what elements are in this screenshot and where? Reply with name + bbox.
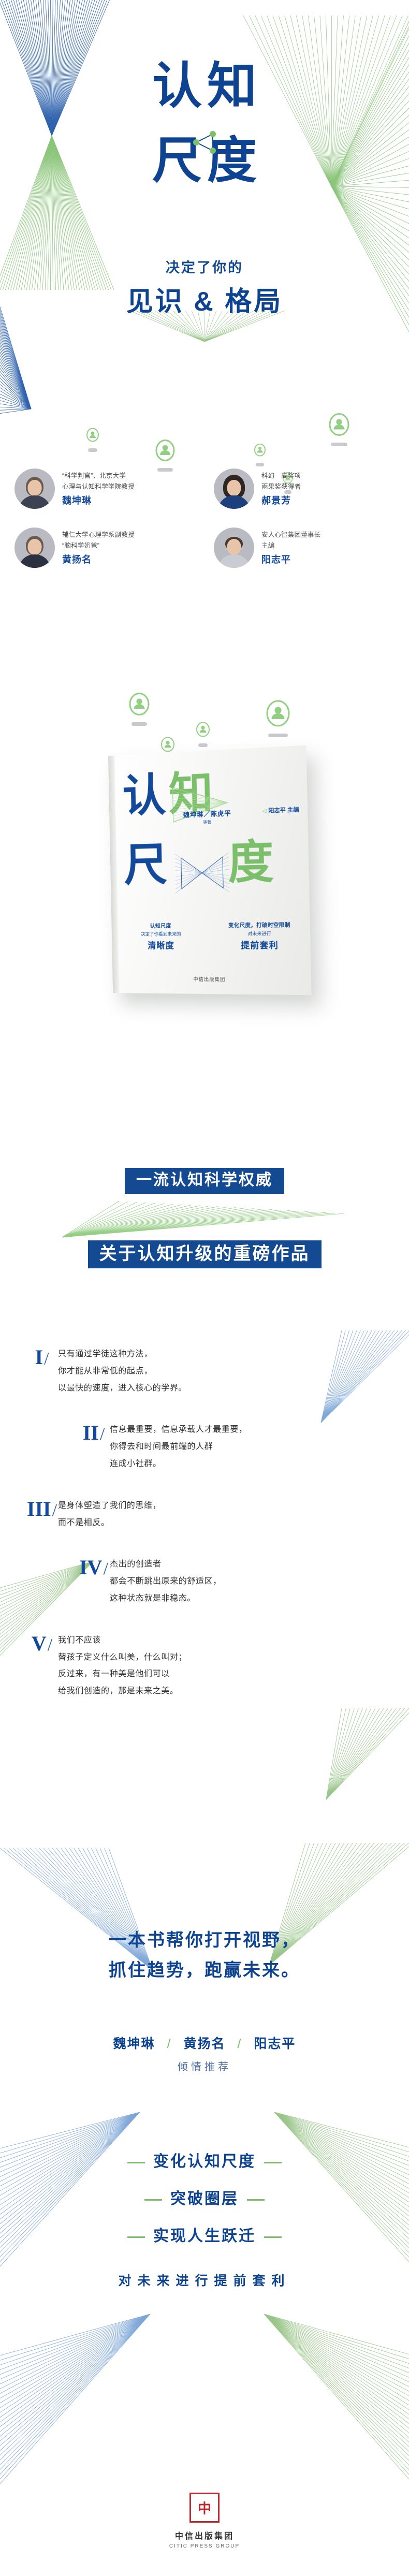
quote-text: 只有通过学徒这种方法， 你才能从非常低的起点， 以最快的速度，进入核心的学界。 bbox=[58, 1346, 187, 1397]
closing-headline-line2: 抓住趋势，跑赢未来。 bbox=[0, 1956, 409, 1981]
hero-section: 认知 尺度 决定了你的 见识 & 格局 bbox=[0, 0, 409, 409]
citic-logo-icon: 中 bbox=[189, 2493, 220, 2523]
triangle-small-icon: ◁ bbox=[262, 808, 267, 814]
person-doodle-3 bbox=[254, 444, 266, 466]
footer-logo-block: 中 中信出版集团 CITIC PRESS GROUP bbox=[0, 2493, 409, 2549]
book-blurb-right: 变化尺度，打破时空限制 对未来进行 提前套利 bbox=[220, 921, 300, 951]
quote-text: 是身体塑造了我们的思维， 而不是相反。 bbox=[58, 1498, 161, 1532]
banner-green-wedge bbox=[57, 1200, 347, 1241]
closing-fan-left bbox=[0, 1848, 155, 1972]
author-card-3: 安人心智集团董事长 主编 阳志平 bbox=[204, 528, 409, 568]
book-char-0: 认 bbox=[122, 772, 166, 819]
avatar bbox=[214, 528, 254, 568]
banner-1-wrap: 一流认知科学权威 bbox=[0, 1168, 409, 1194]
quote-numeral: I/ bbox=[26, 1347, 58, 1368]
banner-2-wrap: 关于认知升级的重磅作品 bbox=[0, 1240, 409, 1268]
book-char-2: 尺 bbox=[124, 842, 168, 888]
publisher-name-en: CITIC PRESS GROUP bbox=[0, 2543, 409, 2549]
dash-mark bbox=[127, 2162, 145, 2163]
slash-mark: / bbox=[48, 1635, 52, 1655]
person-doodle-2 bbox=[155, 440, 176, 472]
quote-numeral: IV/ bbox=[78, 1557, 110, 1578]
book-spine bbox=[108, 756, 119, 993]
author-title-line2: “脑科学奶爸” bbox=[62, 540, 135, 551]
cta-line-0: 变化认知尺度 bbox=[0, 2148, 409, 2171]
author-name: 魏坤琳 bbox=[62, 493, 135, 507]
book-cover-title: 认 知 尺 度 bbox=[121, 766, 298, 901]
book-blue-hourglass-icon bbox=[174, 852, 230, 894]
person-doodle-6 bbox=[128, 693, 150, 726]
quote-item-2: III/ 是身体塑造了我们的思维， 而不是相反。 bbox=[0, 1498, 409, 1532]
book-editor: ◁阳志平 主编 bbox=[262, 805, 299, 815]
author-card-0: “科学判官”、北京大学 心理与认知科学学院教授 魏坤琳 bbox=[0, 469, 204, 509]
book-blurb-row: 认知尺度 决定了你看到未来的 清晰度 变化尺度，打破时空限制 对未来进行 提前套… bbox=[123, 921, 300, 951]
avatar bbox=[14, 528, 55, 568]
slash-mark: / bbox=[100, 1425, 105, 1444]
separator-slash: / bbox=[237, 2037, 242, 2051]
book-char-3: 度 bbox=[227, 839, 274, 886]
author-title-line1: “科学判官”、北京大学 bbox=[62, 471, 135, 481]
blurb-right-line3: 提前套利 bbox=[220, 938, 300, 951]
dash-mark bbox=[264, 2162, 282, 2163]
author-title-line2: 主编 bbox=[261, 540, 320, 551]
quote-item-3: IV/ 杰出的创造者 都会不断跳出原来的舒适区， 这种状态就是非稳态。 bbox=[0, 1556, 409, 1607]
author-title-line2: 心理与认知科学学院教授 bbox=[62, 481, 135, 492]
blurb-right-line2: 对未来进行 bbox=[220, 930, 300, 937]
quote-list: I/ 只有通过学徒这种方法， 你才能从非常低的起点， 以最快的速度，进入核心的学… bbox=[0, 1346, 409, 1725]
quote-numeral: II/ bbox=[78, 1423, 110, 1443]
quote-item-0: I/ 只有通过学徒这种方法， 你才能从非常低的起点， 以最快的速度，进入核心的学… bbox=[0, 1346, 409, 1397]
banner-1: 一流认知科学权威 bbox=[125, 1168, 284, 1194]
person-doodle-1 bbox=[86, 428, 99, 452]
author-title-line1: 安人心智集团董事长 bbox=[261, 530, 320, 540]
quote-numeral: V/ bbox=[26, 1633, 58, 1654]
quote-text: 我们不应该 替孩子定义什么叫美，什么叫对； 反过来，有一种美是他们可以 给我们创… bbox=[58, 1632, 187, 1700]
blurb-right-line1: 变化尺度，打破时空限制 bbox=[220, 921, 299, 929]
cta-last-line: 对未来进行提前套利 bbox=[0, 2271, 409, 2289]
recommend-subtitle: 倾情推荐 bbox=[0, 2058, 409, 2073]
dash-mark bbox=[247, 2199, 265, 2201]
publisher-name-cn: 中信出版集团 bbox=[0, 2529, 409, 2541]
author-card-1: 科幻 高奖项 雨果奖获得者 郝景芳 bbox=[204, 469, 409, 509]
blurb-left-line2: 决定了你看到未来的 bbox=[123, 930, 199, 938]
book-cover-section: 认 知 尺 度 bbox=[0, 722, 409, 1012]
author-name: 郝景芳 bbox=[261, 493, 301, 507]
promo-page: 认知 尺度 决定了你的 见识 & 格局 bbox=[0, 0, 409, 2576]
author-title-line1: 科幻 高奖项 bbox=[261, 471, 301, 481]
slash-mark: / bbox=[44, 1349, 49, 1368]
author-name: 黄扬名 bbox=[62, 552, 135, 566]
authors-grid: “科学判官”、北京大学 心理与认知科学学院教授 魏坤琳 科幻 高奖项 雨果奖获得… bbox=[0, 469, 409, 568]
closing-headline-line1: 一本书帮你打开视野， bbox=[0, 1926, 409, 1951]
authors-row-1: “科学判官”、北京大学 心理与认知科学学院教授 魏坤琳 科幻 高奖项 雨果奖获得… bbox=[0, 469, 409, 509]
book-authors: 魏坤琳／陈虎平 bbox=[183, 808, 231, 819]
hero-title-block: 认知 尺度 bbox=[0, 61, 409, 186]
quote-item-1: II/ 信息最重要，信息承载人才最重要， 你得去和时间最前端的人群 连成小社群。 bbox=[0, 1422, 409, 1472]
book-blurb-left: 认知尺度 决定了你看到未来的 清晰度 bbox=[123, 921, 199, 951]
recommender-2: 阳志平 bbox=[254, 2037, 296, 2051]
hero-title-line1: 认知 bbox=[0, 61, 409, 112]
recommenders-row: 魏坤琳 / 黄扬名 / 阳志平 bbox=[0, 2033, 409, 2052]
cta-line-1: 突破圈层 bbox=[0, 2186, 409, 2208]
banner-2: 关于认知升级的重磅作品 bbox=[88, 1240, 322, 1268]
person-doodle-5 bbox=[328, 413, 350, 446]
quote-text: 杰出的创造者 都会不断跳出原来的舒适区， 这种状态就是非稳态。 bbox=[110, 1556, 222, 1607]
recommender-1: 黄扬名 bbox=[183, 2037, 225, 2051]
author-title-line1: 辅仁大学心理学系副教授 bbox=[62, 530, 135, 540]
logo-glyph: 中 bbox=[198, 2498, 211, 2518]
book-cover: 认 知 尺 度 bbox=[108, 745, 312, 996]
avatar bbox=[214, 469, 254, 509]
footer-fan-left bbox=[0, 2314, 155, 2485]
cta-line-2: 实现人生跃迁 bbox=[0, 2223, 409, 2246]
dash-mark bbox=[127, 2236, 145, 2238]
author-card-2: 辅仁大学心理学系副教授 “脑科学奶爸” 黄扬名 bbox=[0, 528, 204, 568]
book-authors-block: 魏坤琳／陈虎平 等著 bbox=[183, 808, 231, 826]
author-title-line2: 雨果奖获得者 bbox=[261, 481, 301, 492]
avatar bbox=[14, 469, 55, 509]
separator-slash: / bbox=[167, 2037, 172, 2051]
quote-item-4: V/ 我们不应该 替孩子定义什么叫美，什么叫对； 反过来，有一种美是他们可以 给… bbox=[0, 1632, 409, 1700]
blurb-left-line3: 清晰度 bbox=[123, 938, 199, 951]
hero-tagline: 见识 & 格局 bbox=[0, 280, 409, 318]
dash-mark bbox=[264, 2236, 282, 2238]
footer-fan-right bbox=[259, 2314, 409, 2485]
slash-mark: / bbox=[52, 1501, 57, 1520]
hero-subtitle: 决定了你的 bbox=[0, 256, 409, 276]
recommender-0: 魏坤琳 bbox=[113, 2037, 155, 2051]
blurb-left-line1: 认知尺度 bbox=[123, 921, 199, 930]
book-publisher: 中信出版集团 bbox=[112, 975, 311, 984]
slash-mark: / bbox=[104, 1559, 108, 1578]
author-name: 阳志平 bbox=[261, 552, 320, 566]
triangle-node-icon bbox=[191, 131, 218, 156]
quote-numeral: III/ bbox=[26, 1499, 58, 1519]
authors-row-2: 辅仁大学心理学系副教授 “脑科学奶爸” 黄扬名 安人心智集团董事长 主编 阳志平 bbox=[0, 528, 409, 568]
dash-mark bbox=[144, 2199, 162, 2201]
quote-text: 信息最重要，信息承载人才最重要， 你得去和时间最前端的人群 连成小社群。 bbox=[110, 1422, 247, 1472]
